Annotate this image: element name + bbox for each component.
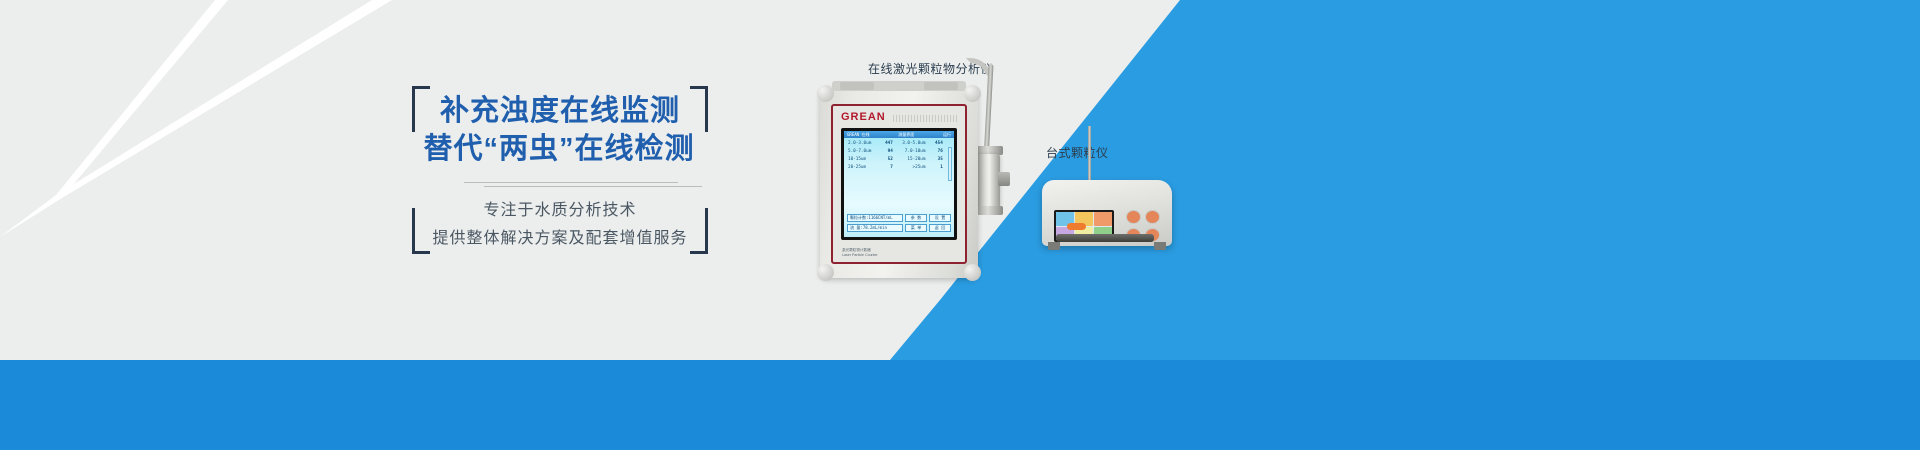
count-b: 1 bbox=[925, 166, 942, 170]
count-a: 52 bbox=[879, 158, 893, 162]
lcd-title-bar: GREAN 在线 测量界面 运行 bbox=[844, 131, 954, 138]
count-b: 76 bbox=[925, 150, 942, 154]
enclosure-screw-icon bbox=[964, 85, 981, 102]
product-image-group: 在线激光颗粒物分析仪 台式颗粒仪 GREAN bbox=[790, 50, 1210, 320]
lcd-button-menu[interactable]: 菜 单 bbox=[905, 224, 927, 232]
lcd-footer-controls: 颗粒计数:1166CNT/mL 参 数 设 置 流 量:78.2mL/min 菜… bbox=[847, 214, 951, 234]
analyzer-model-label: 激光颗粒物计数器 Laser Particle Counter bbox=[842, 248, 878, 258]
brand-bar: GREAN bbox=[841, 111, 959, 124]
headline-line-2: 替代“两虫”在线检测 bbox=[410, 130, 708, 168]
benchtop-stand-rod bbox=[1088, 126, 1091, 182]
divider-line-1 bbox=[464, 182, 678, 183]
size-range-b: 3.0-5.0um bbox=[893, 142, 926, 146]
size-range-a: 5.0-7.0um bbox=[848, 150, 879, 154]
analyzer-model-label-en: Laser Particle Counter bbox=[842, 253, 878, 258]
particle-count-table: 2.0-3.0um 447 3.0-5.0um 454 5.0-7.0um 94… bbox=[844, 138, 954, 176]
keypad-button[interactable] bbox=[1145, 210, 1160, 224]
analyzer-lcd-screen[interactable]: GREAN 在线 测量界面 运行 2.0-3.0um 447 3.0-5.0um… bbox=[841, 128, 957, 240]
table-row: 20-25um 7 >25um 1 bbox=[848, 166, 950, 170]
brand-name: GREAN bbox=[841, 111, 886, 124]
headline-line-1: 补充浊度在线监测 bbox=[412, 92, 708, 130]
table-row: 10-15um 52 15-20um 35 bbox=[848, 158, 950, 162]
blue-bottom-band bbox=[0, 360, 1920, 450]
subtitle-line-2: 提供整体解决方案及配套增值服务 bbox=[412, 226, 708, 252]
screen-tile[interactable] bbox=[1094, 212, 1112, 226]
benchtop-sample-slot bbox=[1056, 234, 1154, 242]
lcd-button-settings[interactable]: 设 置 bbox=[929, 214, 951, 222]
subtitle-line-1: 专注于水质分析技术 bbox=[412, 198, 708, 224]
enclosure-screw-icon bbox=[817, 85, 834, 102]
hero-banner: 补充浊度在线监测 替代“两虫”在线检测 专注于水质分析技术 提供整体解决方案及配… bbox=[0, 0, 1920, 450]
lcd-title-left: GREAN 在线 bbox=[847, 133, 869, 137]
headline-panel: 补充浊度在线监测 替代“两虫”在线检测 专注于水质分析技术 提供整体解决方案及配… bbox=[412, 86, 708, 254]
benchtop-foot bbox=[1154, 242, 1166, 250]
size-range-b: >25um bbox=[893, 166, 926, 170]
enclosure-screw-icon bbox=[964, 264, 981, 281]
benchtop-foot bbox=[1048, 242, 1060, 250]
size-range-a: 2.0-3.0um bbox=[848, 142, 879, 146]
sensor-probe-port bbox=[998, 172, 1010, 186]
lcd-button-back[interactable]: 返 回 bbox=[929, 224, 951, 232]
lcd-title-right: 运行 bbox=[943, 133, 951, 137]
benchtop-housing bbox=[1042, 180, 1172, 246]
size-range-b: 15-20um bbox=[893, 158, 926, 162]
flow-rate-field: 流 量:78.2mL/min bbox=[847, 224, 903, 232]
table-row: 5.0-7.0um 94 7.0-10um 76 bbox=[848, 150, 950, 154]
lcd-button-params[interactable]: 参 数 bbox=[905, 214, 927, 222]
lcd-scrollbar[interactable] bbox=[948, 147, 952, 181]
count-a: 94 bbox=[879, 150, 893, 154]
count-a: 447 bbox=[879, 142, 893, 146]
divider-line-2 bbox=[484, 186, 702, 187]
screen-active-pill[interactable] bbox=[1067, 223, 1086, 230]
caption-benchtop-particle-counter: 台式颗粒仪 bbox=[1046, 144, 1109, 161]
size-range-a: 10-15um bbox=[848, 158, 879, 162]
size-range-b: 7.0-10um bbox=[893, 150, 926, 154]
enclosure-top-flange bbox=[832, 81, 966, 91]
size-range-a: 20-25um bbox=[848, 166, 879, 170]
lcd-title-center: 测量界面 bbox=[898, 133, 914, 137]
headline: 补充浊度在线监测 替代“两虫”在线检测 bbox=[412, 92, 708, 168]
count-a: 7 bbox=[879, 166, 893, 170]
enclosure-screw-icon bbox=[817, 264, 834, 281]
lcd-row-field-2: 流 量:78.2mL/min 菜 单 返 回 bbox=[847, 224, 951, 232]
benchtop-particle-counter bbox=[1042, 170, 1178, 258]
online-laser-particle-analyzer: GREAN GREAN 在线 测量界面 运行 2.0-3.0um bbox=[820, 88, 978, 278]
keypad-button[interactable] bbox=[1126, 210, 1141, 224]
analyzer-front-panel: GREAN GREAN 在线 测量界面 运行 2.0-3.0um bbox=[831, 104, 967, 264]
count-b: 35 bbox=[925, 158, 942, 162]
brand-hatch-pattern bbox=[893, 115, 959, 122]
lcd-row-field-1: 颗粒计数:1166CNT/mL 参 数 设 置 bbox=[847, 214, 951, 222]
particle-concentration-field: 颗粒计数:1166CNT/mL bbox=[847, 214, 903, 222]
lcd-content: GREAN 在线 测量界面 运行 2.0-3.0um 447 3.0-5.0um… bbox=[844, 131, 954, 237]
table-row: 2.0-3.0um 447 3.0-5.0um 454 bbox=[848, 142, 950, 146]
sensor-probe-body bbox=[976, 154, 1000, 208]
count-b: 454 bbox=[925, 142, 942, 146]
